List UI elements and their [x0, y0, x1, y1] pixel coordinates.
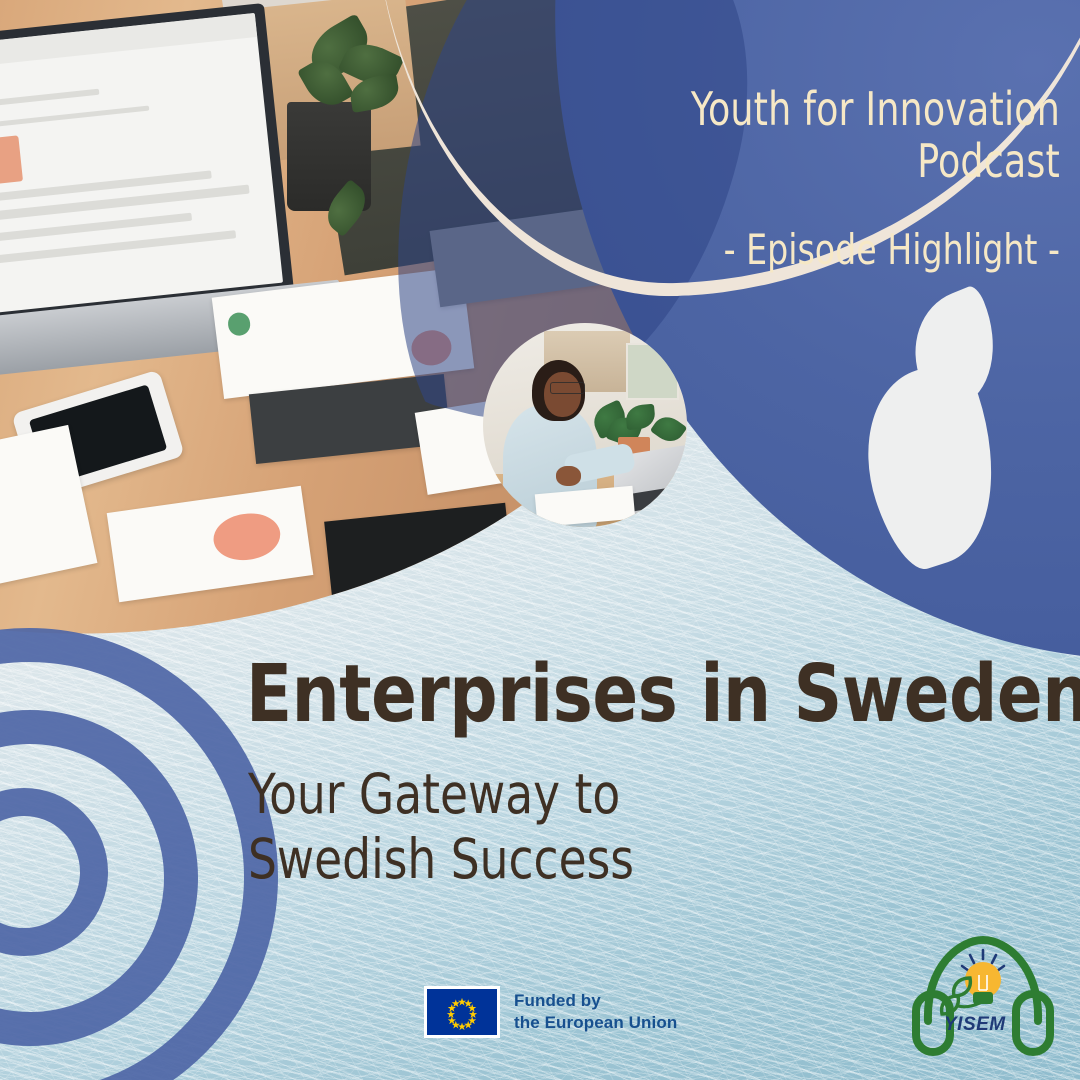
- screen-line: [0, 106, 150, 129]
- yisem-wordmark: YISEM: [944, 1014, 1006, 1036]
- screen-line: [0, 89, 99, 107]
- eu-stars: [427, 989, 497, 1035]
- laptop-screen: [0, 13, 283, 314]
- eu-funding-line-1: Funded by: [514, 990, 677, 1012]
- paper-logo-mark: [210, 509, 282, 564]
- eu-funding-line-2: the European Union: [514, 1012, 677, 1034]
- podcast-title: Youth for Innovation Podcast: [620, 84, 1060, 188]
- poster-canvas: Youth for Innovation Podcast - Episode H…: [0, 0, 1080, 1080]
- headphones-lightbulb-leaf-icon: [908, 926, 1058, 1066]
- screen-swatch: [0, 136, 23, 187]
- portrait-person-glasses: [550, 382, 585, 394]
- portrait-person-hand: [556, 466, 580, 486]
- concentric-arcs-decoration: [0, 618, 240, 1080]
- european-union-flag-icon: [424, 986, 500, 1038]
- page-title: Enterprises in Sweden: [246, 655, 1080, 734]
- eu-funding-badge: Funded by the European Union: [424, 986, 677, 1038]
- eu-funding-label: Funded by the European Union: [514, 990, 677, 1034]
- yisem-logo: YISEM: [908, 926, 1058, 1066]
- paper-logo-mark: [226, 311, 251, 336]
- episode-highlight-tag: - Episode Highlight -: [620, 225, 1060, 274]
- woman-working-at-desk-photo: [483, 323, 687, 527]
- portrait-person-face: [544, 372, 581, 417]
- laptop: [0, 3, 295, 329]
- page-subtitle: Your Gateway to Swedish Success: [248, 762, 745, 892]
- portrait-wall-art: [626, 343, 679, 400]
